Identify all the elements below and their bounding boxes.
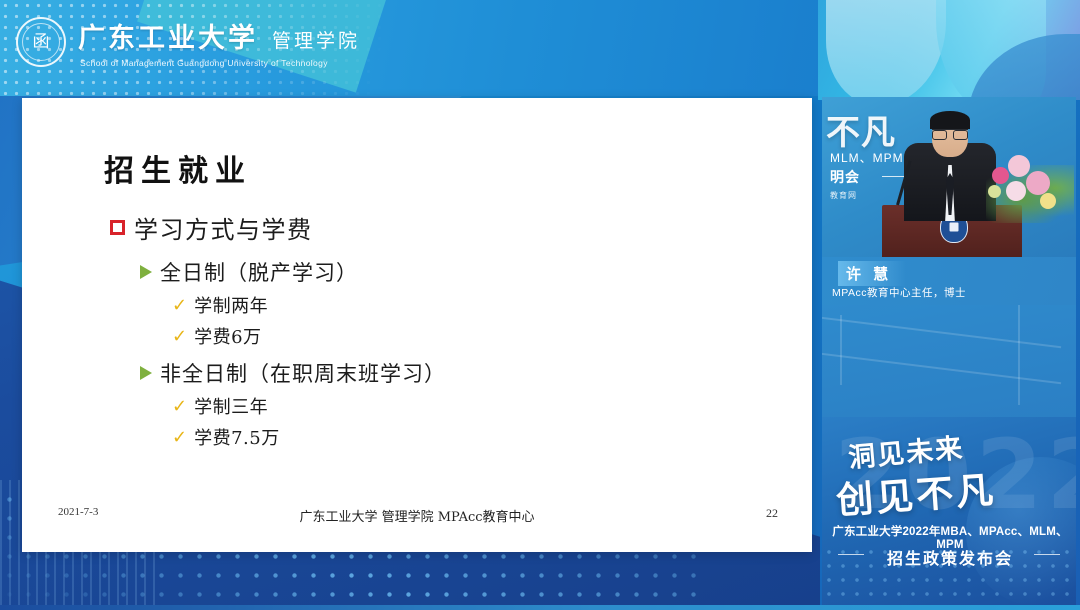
check-bullet-icon: ✓ <box>172 428 187 446</box>
bullet-level3: ✓ 学费7.5万 <box>172 424 772 450</box>
slide-title: 招生就业 <box>104 146 252 190</box>
flower <box>1040 193 1056 209</box>
speaker-glasses-icon <box>932 129 968 139</box>
rail-filler-panel <box>822 305 1076 417</box>
wordmark: 广东工业大学 管理学院 School of Management Guangdo… <box>78 16 360 68</box>
backdrop-headline: 不凡 <box>826 105 896 154</box>
event-promo-panel: 2022 洞见未来 创见不凡 广东工业大学2022年MBA、MPAcc、MLM、… <box>822 417 1076 605</box>
backdrop-programs: MLM、MPM <box>830 149 904 166</box>
right-rail: 不凡 MLM、MPM 明会 教育网 <box>818 0 1080 610</box>
university-crest-icon: 函 <box>16 17 66 67</box>
slide-body: 学习方式与学费 全日制（脱产学习） ✓ 学制两年 ✓ 学费6万 非全日制（在职周… <box>110 210 772 455</box>
green-arrow-bullet-icon <box>140 265 152 279</box>
flower-arrangement <box>986 145 1070 219</box>
decorative-line <box>840 315 842 385</box>
bullet-level3-label: 学费6万 <box>194 323 261 349</box>
slide-page-number: 22 <box>766 506 778 521</box>
bullet-level3-label: 学制三年 <box>194 393 268 419</box>
bullet-level3: ✓ 学制三年 <box>172 393 772 419</box>
check-bullet-icon: ✓ <box>172 327 187 345</box>
decorative-line <box>822 352 1061 384</box>
green-arrow-bullet-icon <box>140 366 152 380</box>
slide-footer: 2021-7-3 广东工业大学 管理学院 MPAcc教育中心 22 <box>22 506 812 522</box>
bullet-level2-fulltime: 全日制（脱产学习） <box>140 257 772 287</box>
bullet-level3-label: 学制两年 <box>194 292 268 318</box>
speaker-hair <box>930 111 970 129</box>
bullet-level2-label: 全日制（脱产学习） <box>160 257 358 287</box>
bullet-level3-label: 学费7.5万 <box>194 424 280 450</box>
screen: 函 广东工业大学 管理学院 School of Management Guang… <box>0 0 1080 610</box>
promo-dot-pattern <box>822 545 1076 605</box>
decorative-blob <box>826 0 946 100</box>
check-bullet-icon: ✓ <box>172 397 187 415</box>
bullet-level3: ✓ 学制两年 <box>172 292 772 318</box>
speaker-video-panel[interactable]: 不凡 MLM、MPM 明会 教育网 <box>822 97 1076 257</box>
presentation-slide: 招生就业 学习方式与学费 全日制（脱产学习） ✓ 学制两年 ✓ 学费6万 非全日… <box>22 98 812 552</box>
rail-gradient-header <box>818 0 1080 100</box>
check-bullet-icon: ✓ <box>172 296 187 314</box>
backdrop-source: 教育网 <box>830 190 857 201</box>
flower <box>1026 171 1050 195</box>
school-name: 管理学院 <box>272 26 360 53</box>
backdrop-subtitle: 明会 <box>830 167 860 187</box>
speaker-name-card: 许 慧 MPAcc教育中心主任，博士 <box>822 257 1076 305</box>
brand-logo: 函 广东工业大学 管理学院 School of Management Guang… <box>16 14 360 70</box>
bullet-level3: ✓ 学费6万 <box>172 323 772 349</box>
flower <box>1006 181 1026 201</box>
slide-footer-org: 广东工业大学 管理学院 MPAcc教育中心 <box>22 506 812 525</box>
promo-slogan-line2: 创见不凡 <box>834 459 997 524</box>
crest-glyph: 函 <box>33 34 50 51</box>
flower <box>1008 155 1030 177</box>
bullet-level1-label: 学习方式与学费 <box>134 210 313 245</box>
flower <box>992 167 1009 184</box>
speaker-name: 许 慧 <box>838 261 906 286</box>
bullet-level2-label: 非全日制（在职周末班学习） <box>160 358 446 388</box>
bullet-level1: 学习方式与学费 <box>110 210 772 245</box>
red-square-bullet-icon <box>110 220 125 235</box>
bullet-level2-parttime: 非全日制（在职周末班学习） <box>140 358 772 388</box>
university-name: 广东工业大学 <box>78 16 258 55</box>
speaker-role: MPAcc教育中心主任，博士 <box>832 285 966 300</box>
decorative-line <box>822 316 1061 348</box>
english-name: School of Management Guangdong Universit… <box>80 58 360 68</box>
flower <box>988 185 1001 198</box>
decorative-line <box>1018 305 1020 405</box>
